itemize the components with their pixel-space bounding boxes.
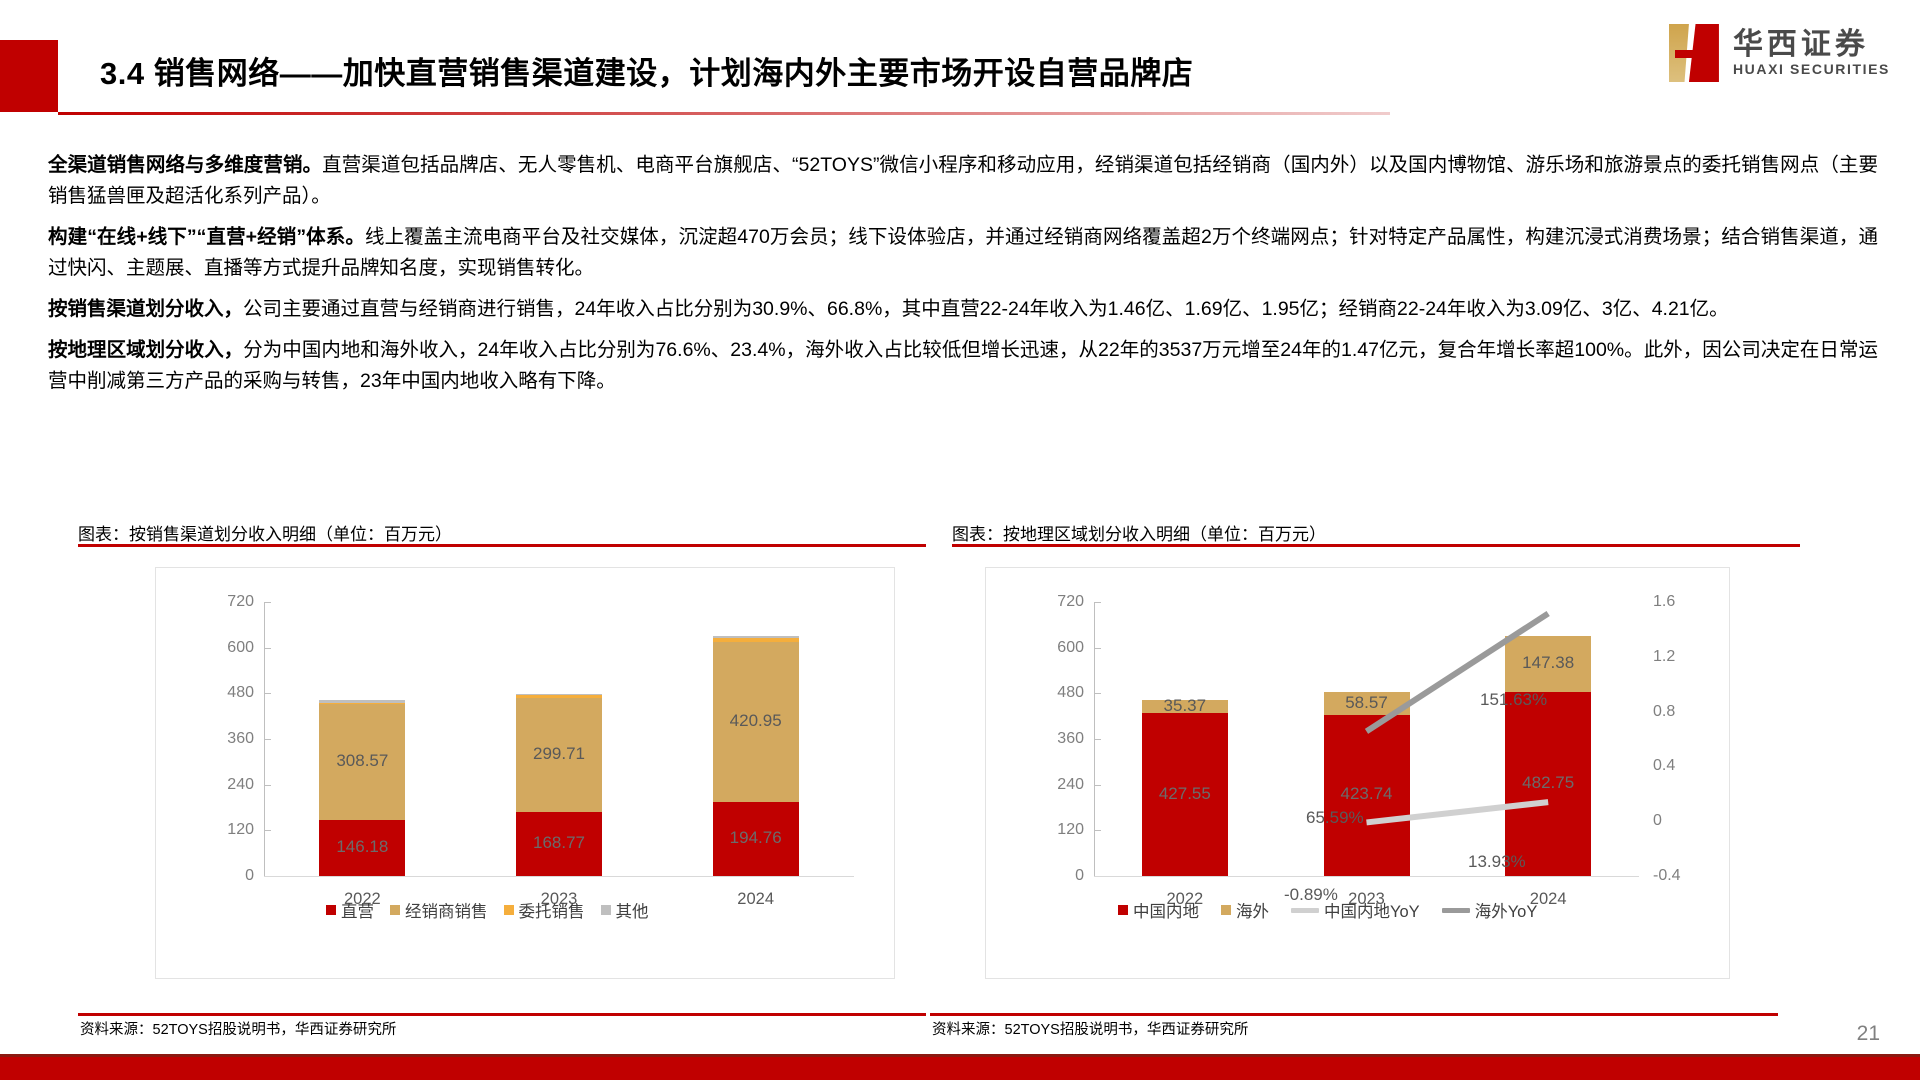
legend-line-label-1: 海外YoY	[1475, 898, 1538, 922]
right-chart-caption: 图表：按地理区域划分收入明细（单位：百万元）	[952, 520, 1326, 545]
bar-segment-2023-3	[516, 694, 602, 695]
bar-segment-2024-3	[713, 636, 799, 638]
y-tick-label-6: 720	[1024, 593, 1084, 611]
bar-value-label-2024-1: 147.38	[1522, 653, 1574, 673]
huaxi-logo-mark-icon	[1667, 22, 1723, 84]
paragraph-1: 全渠道销售网络与多维度营销。直营渠道包括品牌店、无人零售机、电商平台旗舰店、“5…	[48, 150, 1878, 212]
legend-label-0: 直营	[341, 898, 374, 922]
right-chart-source: 资料来源：52TOYS招股说明书，华西证券研究所	[932, 1018, 1248, 1039]
y-tick-label-0: 0	[1024, 867, 1084, 885]
left-chart-panel: 0120240360480600720146.18308.572022168.7…	[155, 567, 895, 979]
header-accent-block	[0, 40, 58, 112]
y-tick-label-2: 240	[194, 776, 254, 794]
legend-line-swatch-1	[1442, 908, 1470, 913]
right-source-rule	[930, 1013, 1778, 1016]
bar-value-label-2022-1: 308.57	[336, 751, 388, 771]
y-tick-label-3: 360	[194, 730, 254, 748]
y-tick-label-4: 480	[1024, 684, 1084, 702]
y2-tick-label-5: 1.6	[1653, 593, 1713, 611]
y-tick-mark-2	[1094, 785, 1101, 786]
y-tick-label-5: 600	[194, 639, 254, 657]
legend-swatch-0	[1118, 905, 1128, 915]
bar-value-label-2022-0: 427.55	[1159, 784, 1211, 804]
trend-label-3: 13.93%	[1468, 852, 1526, 872]
bar-value-label-2024-1: 420.95	[730, 711, 782, 731]
bar-value-label-2023-1: 58.57	[1345, 693, 1388, 713]
slide: 3.4 销售网络——加快直营销售渠道建设，计划海内外主要市场开设自营品牌店 华西…	[0, 0, 1920, 1080]
bar-value-label-2022-0: 146.18	[336, 837, 388, 857]
y2-tick-label-4: 1.2	[1653, 648, 1713, 666]
legend-swatch-1	[1221, 905, 1231, 915]
y2-tick-label-3: 0.8	[1653, 703, 1713, 721]
legend-label-1: 经销商销售	[405, 898, 488, 922]
legend-item-1: 海外	[1221, 898, 1269, 922]
y-tick-label-6: 720	[194, 593, 254, 611]
x-tick-label-2: 2024	[737, 890, 774, 909]
legend-label-0: 中国内地	[1133, 898, 1199, 922]
legend-swatch-1	[390, 905, 400, 915]
y-tick-mark-3	[1094, 739, 1101, 740]
y2-tick-label-1: 0	[1653, 812, 1713, 830]
paragraph-4-lead: 按地理区域划分收入，	[48, 339, 243, 361]
chart-legend: 直营经销商销售委托销售其他	[326, 898, 649, 922]
bar-value-label-2024-0: 194.76	[730, 828, 782, 848]
bar-segment-2023-2	[516, 695, 602, 698]
chart-legend: 中国内地海外中国内地YoY海外YoY	[1118, 898, 1537, 922]
y-tick-mark-1	[1094, 830, 1101, 831]
y-tick-label-1: 120	[1024, 821, 1084, 839]
trend-label-1: 65.59%	[1306, 808, 1364, 828]
bar-segment-2024-2	[713, 638, 799, 642]
logo-text-cn: 华西证券	[1733, 29, 1890, 61]
y-tick-mark-5	[1094, 648, 1101, 649]
y-tick-mark-6	[264, 602, 271, 603]
y-tick-label-0: 0	[194, 867, 254, 885]
legend-item-0: 中国内地	[1118, 898, 1199, 922]
page-number: 21	[1857, 1022, 1880, 1046]
legend-item-3: 其他	[601, 898, 649, 922]
legend-item-0: 直营	[326, 898, 374, 922]
legend-item-2: 委托销售	[504, 898, 585, 922]
bar-value-label-2024-0: 482.75	[1522, 773, 1574, 793]
y2-tick-label-0: -0.4	[1653, 867, 1713, 885]
paragraph-1-rest: 直营渠道包括品牌店、无人零售机、电商平台旗舰店、“52TOYS”微信小程序和移动…	[48, 154, 1878, 207]
legend-swatch-2	[504, 905, 514, 915]
paragraph-3-rest: 公司主要通过直营与经销商进行销售，24年收入占比分别为30.9%、66.8%，其…	[243, 298, 1729, 320]
page-title: 3.4 销售网络——加快直营销售渠道建设，计划海内外主要市场开设自营品牌店	[100, 48, 1193, 93]
legend-item-line-0: 中国内地YoY	[1291, 898, 1420, 922]
y-tick-label-5: 600	[1024, 639, 1084, 657]
legend-line-label-0: 中国内地YoY	[1324, 898, 1420, 922]
y-tick-mark-6	[1094, 602, 1101, 603]
legend-item-1: 经销商销售	[390, 898, 488, 922]
left-chart-caption: 图表：按销售渠道划分收入明细（单位：百万元）	[78, 520, 452, 545]
bar-value-label-2022-1: 35.37	[1164, 696, 1207, 716]
legend-label-3: 其他	[616, 898, 649, 922]
bar-value-label-2023-1: 299.71	[533, 744, 585, 764]
legend-label-2: 委托销售	[519, 898, 585, 922]
y-tick-mark-2	[264, 785, 271, 786]
x-axis-line	[264, 876, 854, 877]
y-tick-mark-4	[1094, 693, 1101, 694]
right-chart-panel: 0120240360480600720-0.400.40.81.21.6427.…	[985, 567, 1730, 979]
y-tick-label-2: 240	[1024, 776, 1084, 794]
legend-swatch-0	[326, 905, 336, 915]
y-tick-mark-5	[264, 648, 271, 649]
bar-value-label-2023-0: 423.74	[1341, 784, 1393, 804]
bar-value-label-2023-0: 168.77	[533, 833, 585, 853]
right-caption-rule	[952, 544, 1800, 547]
paragraph-4-rest: 分为中国内地和海外收入，24年收入占比分别为76.6%、23.4%，海外收入占比…	[48, 339, 1878, 392]
logo-text-en: HUAXI SECURITIES	[1733, 61, 1890, 77]
paragraph-4: 按地理区域划分收入，分为中国内地和海外收入，24年收入占比分别为76.6%、23…	[48, 335, 1878, 397]
y-tick-mark-4	[264, 693, 271, 694]
footer-bar	[0, 1054, 1920, 1080]
y-tick-mark-1	[264, 830, 271, 831]
y2-tick-label-2: 0.4	[1653, 757, 1713, 775]
y-tick-label-4: 480	[194, 684, 254, 702]
bar-segment-2022-3	[319, 700, 405, 702]
body-text: 全渠道销售网络与多维度营销。直营渠道包括品牌店、无人零售机、电商平台旗舰店、“5…	[48, 150, 1878, 407]
paragraph-2-lead: 构建“在线+线下”“直营+经销”体系。	[48, 226, 365, 248]
legend-swatch-3	[601, 905, 611, 915]
legend-line-swatch-0	[1291, 908, 1319, 913]
header-underline	[58, 112, 1390, 115]
legend-item-line-1: 海外YoY	[1442, 898, 1538, 922]
paragraph-3: 按销售渠道划分收入，公司主要通过直营与经销商进行销售，24年收入占比分别为30.…	[48, 294, 1878, 325]
bar-segment-2022-2	[319, 703, 405, 704]
x-axis-line	[1094, 876, 1639, 877]
left-caption-rule	[78, 544, 926, 547]
paragraph-1-lead: 全渠道销售网络与多维度营销。	[48, 154, 322, 176]
legend-label-1: 海外	[1236, 898, 1269, 922]
huaxi-logo: 华西证券 HUAXI SECURITIES	[1667, 22, 1890, 84]
trend-label-0: 151.63%	[1480, 690, 1547, 710]
y-tick-label-3: 360	[1024, 730, 1084, 748]
paragraph-2: 构建“在线+线下”“直营+经销”体系。线上覆盖主流电商平台及社交媒体，沉淀超47…	[48, 222, 1878, 284]
left-source-rule	[78, 1013, 926, 1016]
left-chart-source: 资料来源：52TOYS招股说明书，华西证券研究所	[80, 1018, 396, 1039]
paragraph-3-lead: 按销售渠道划分收入，	[48, 298, 243, 320]
y-tick-mark-3	[264, 739, 271, 740]
y-tick-label-1: 120	[194, 821, 254, 839]
